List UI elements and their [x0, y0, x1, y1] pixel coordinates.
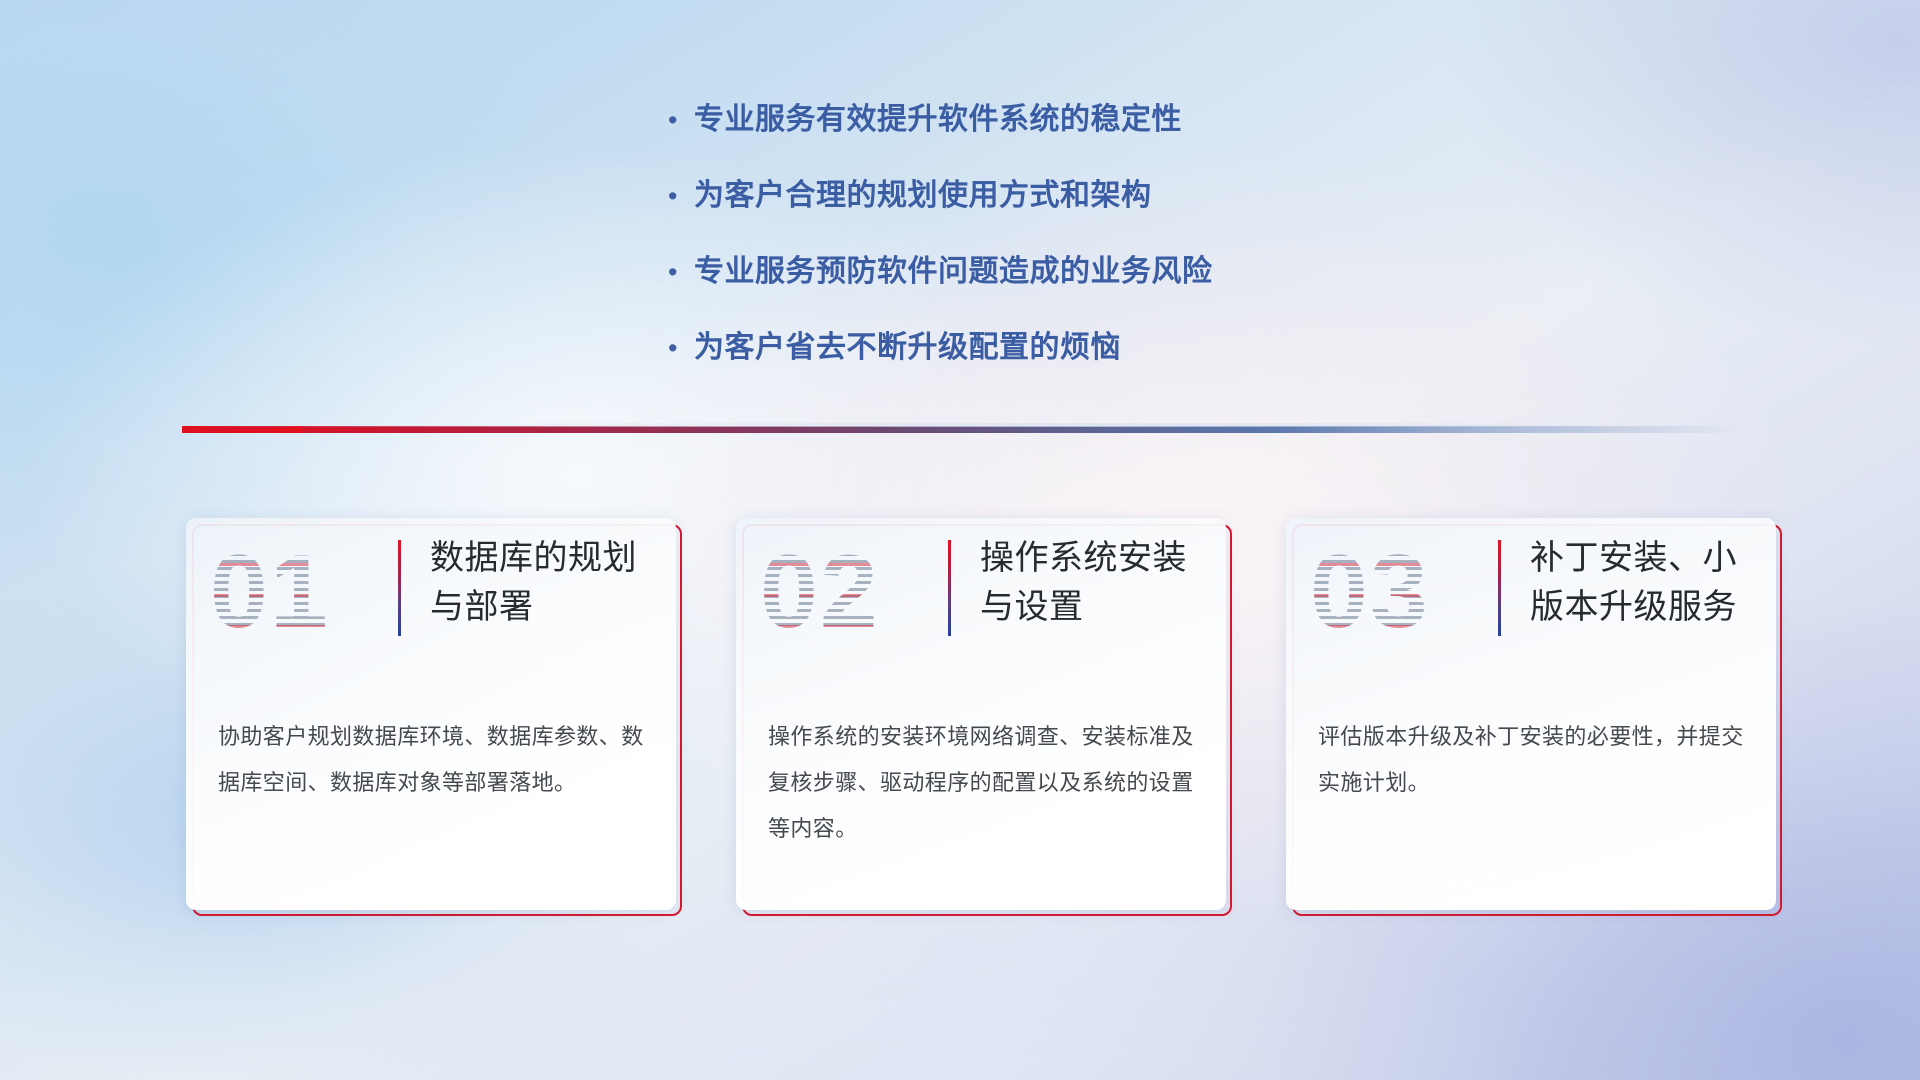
- divider-bar: [182, 426, 1742, 433]
- card-header: 01 01 数据库的规划与部署: [186, 518, 676, 678]
- bullet-item: • 为客户合理的规划使用方式和架构: [668, 171, 1568, 221]
- bullet-text: 为客户省去不断升级配置的烦恼: [694, 323, 1121, 373]
- card-panel: 03 03 补丁安装、小版本升级服务 评估版本升级及补丁安装的必要性，并提交实施…: [1286, 518, 1776, 910]
- card-number-red-overlay: 01: [210, 532, 370, 652]
- benefits-bullet-list: • 专业服务有效提升软件系统的稳定性 • 为客户合理的规划使用方式和架构 • 专…: [668, 95, 1568, 399]
- bullet-item: • 专业服务预防软件问题造成的业务风险: [668, 247, 1568, 297]
- card-title-divider: [1498, 540, 1501, 636]
- card-title: 数据库的规划与部署: [430, 534, 662, 632]
- service-card[interactable]: 01 01 数据库的规划与部署 协助客户规划数据库环境、数据库参数、数据库空间、…: [186, 518, 676, 910]
- service-card[interactable]: 02 02 操作系统安装与设置 操作系统的安装环境网络调查、安装标准及复核步骤、…: [736, 518, 1226, 910]
- card-title-divider: [398, 540, 401, 636]
- card-body-text: 评估版本升级及补丁安装的必要性，并提交实施计划。: [1318, 714, 1748, 806]
- bullet-item: • 为客户省去不断升级配置的烦恼: [668, 323, 1568, 373]
- card-title: 操作系统安装与设置: [980, 534, 1212, 632]
- slide-canvas: • 专业服务有效提升软件系统的稳定性 • 为客户合理的规划使用方式和架构 • 专…: [0, 0, 1920, 1080]
- bullet-dot-icon: •: [668, 247, 694, 297]
- bullet-dot-icon: •: [668, 95, 694, 145]
- card-title: 补丁安装、小版本升级服务: [1530, 534, 1762, 632]
- bullet-item: • 专业服务有效提升软件系统的稳定性: [668, 95, 1568, 145]
- card-body-text: 操作系统的安装环境网络调查、安装标准及复核步骤、驱动程序的配置以及系统的设置等内…: [768, 714, 1198, 852]
- card-number-red-overlay: 03: [1310, 532, 1470, 652]
- bullet-dot-icon: •: [668, 323, 694, 373]
- bullet-dot-icon: •: [668, 171, 694, 221]
- card-panel: 02 02 操作系统安装与设置 操作系统的安装环境网络调查、安装标准及复核步骤、…: [736, 518, 1226, 910]
- divider-highlight: [182, 423, 1742, 427]
- card-panel: 01 01 数据库的规划与部署 协助客户规划数据库环境、数据库参数、数据库空间、…: [186, 518, 676, 910]
- bullet-text: 专业服务有效提升软件系统的稳定性: [694, 95, 1182, 145]
- card-header: 03 03 补丁安装、小版本升级服务: [1286, 518, 1776, 678]
- card-title-divider: [948, 540, 951, 636]
- card-number-red-overlay: 02: [760, 532, 920, 652]
- card-body-text: 协助客户规划数据库环境、数据库参数、数据库空间、数据库对象等部署落地。: [218, 714, 648, 806]
- service-card[interactable]: 03 03 补丁安装、小版本升级服务 评估版本升级及补丁安装的必要性，并提交实施…: [1286, 518, 1776, 910]
- section-divider: [182, 418, 1742, 440]
- bullet-text: 为客户合理的规划使用方式和架构: [694, 171, 1152, 221]
- card-header: 02 02 操作系统安装与设置: [736, 518, 1226, 678]
- service-card-row: 01 01 数据库的规划与部署 协助客户规划数据库环境、数据库参数、数据库空间、…: [0, 518, 1920, 918]
- bullet-text: 专业服务预防软件问题造成的业务风险: [694, 247, 1213, 297]
